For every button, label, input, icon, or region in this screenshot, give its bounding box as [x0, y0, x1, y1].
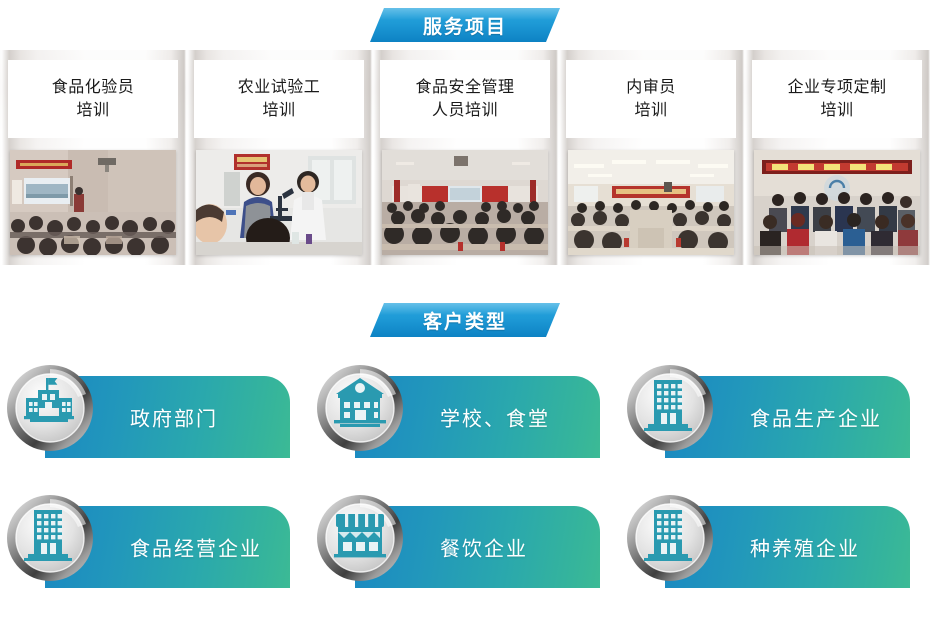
service-card-food-inspector[interactable]: 食品化验员 培训 [0, 50, 186, 265]
service-card-custom-enterprise[interactable]: 企业专项定制 培训 [744, 50, 930, 265]
group-portrait-led-banner-photo [754, 150, 920, 255]
service-cards-row: 食品化验员 培训 [0, 50, 930, 265]
client-card-government[interactable]: 政府部门 [0, 358, 310, 488]
client-card-catering[interactable]: 餐饮企业 [310, 488, 620, 618]
client-card-label: 食品生产企业 [750, 403, 882, 432]
client-card-label: 食品经营企业 [130, 533, 262, 562]
service-card-title: 内审员 培训 [566, 60, 736, 138]
service-card-title-line2: 培训 [787, 99, 886, 122]
service-card-title-line2: 培训 [52, 99, 135, 122]
client-types-grid: 政府部门 [0, 358, 930, 618]
service-card-title: 企业专项定制 培训 [752, 60, 922, 138]
school-building-icon [314, 362, 406, 454]
service-card-agri-lab-worker[interactable]: 农业试验工 培训 [186, 50, 372, 265]
factory-building-icon [624, 362, 716, 454]
client-card-school[interactable]: 学校、食堂 [310, 358, 620, 488]
clients-banner-container: 客户类型 [0, 303, 930, 337]
clients-banner: 客户类型 [370, 303, 560, 337]
service-card-title-line2: 人员培训 [415, 99, 514, 122]
bright-meeting-room-audience-photo [568, 150, 734, 255]
client-card-label: 餐饮企业 [440, 533, 528, 562]
client-card-farming[interactable]: 种养殖企业 [620, 488, 930, 618]
clients-banner-label: 客户类型 [423, 307, 507, 334]
services-banner-label: 服务项目 [423, 12, 507, 39]
storefront-shop-icon [314, 492, 406, 584]
service-card-title: 食品安全管理 人员培训 [380, 60, 550, 138]
service-card-title: 食品化验员 培训 [8, 60, 178, 138]
service-card-food-safety-manager[interactable]: 食品安全管理 人员培训 [372, 50, 558, 265]
service-card-title-line1: 食品安全管理 [415, 76, 514, 99]
client-card-food-production[interactable]: 食品生产企业 [620, 358, 930, 488]
service-card-title-line1: 内审员 [626, 76, 676, 99]
service-card-title-line1: 食品化验员 [52, 76, 135, 99]
services-banner: 服务项目 [370, 8, 560, 42]
client-card-label: 政府部门 [130, 403, 218, 432]
conference-hall-audience-photo [382, 150, 548, 255]
service-card-title-line1: 企业专项定制 [787, 76, 886, 99]
service-card-title-line2: 培训 [238, 99, 321, 122]
office-building-icon [624, 492, 716, 584]
client-card-label: 种养殖企业 [750, 533, 860, 562]
service-card-title-line1: 农业试验工 [238, 76, 321, 99]
service-card-internal-auditor[interactable]: 内审员 培训 [558, 50, 744, 265]
government-building-icon [4, 362, 96, 454]
services-banner-container: 服务项目 [0, 8, 930, 42]
classroom-lecture-red-banner-photo [10, 150, 176, 255]
service-card-title: 农业试验工 培训 [194, 60, 364, 138]
office-building-icon [4, 492, 96, 584]
client-card-food-business[interactable]: 食品经营企业 [0, 488, 310, 618]
client-card-label: 学校、食堂 [440, 403, 550, 432]
laboratory-microscope-training-photo [196, 150, 362, 255]
service-card-title-line2: 培训 [626, 99, 676, 122]
